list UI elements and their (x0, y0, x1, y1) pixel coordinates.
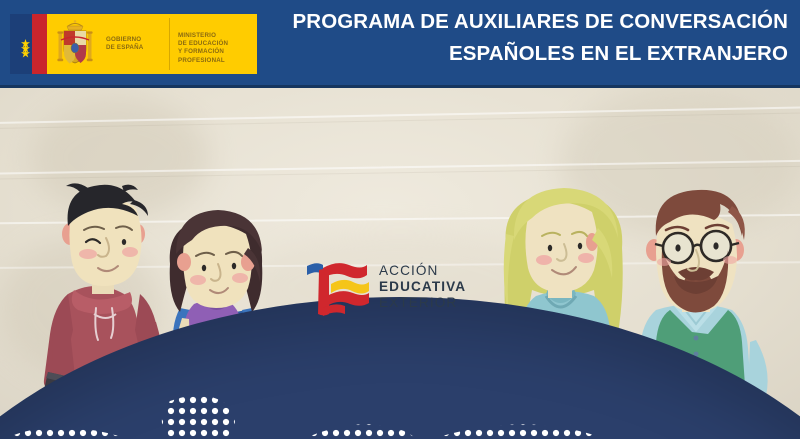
brand-line-2: EDUCATIVA (379, 279, 466, 295)
coat-of-arms-icon (55, 18, 95, 68)
accion-educativa-exterior-logo: ACCIÓN EDUCATIVA EXTERIOR (303, 256, 483, 318)
header-bar: GOBIERNO DE ESPAÑA MINISTERIO DE EDUCACI… (0, 0, 800, 88)
brand-wordmark: ACCIÓN EDUCATIVA EXTERIOR (379, 263, 466, 312)
globe-dot-map (0, 297, 800, 439)
page-title-line-1: PROGRAMA DE AUXILIARES DE CONVERSACIÓN (248, 6, 788, 38)
page-title: PROGRAMA DE AUXILIARES DE CONVERSACIÓN E… (248, 6, 788, 70)
spain-flag-e-mark-icon (303, 258, 369, 316)
globe-sphere (0, 297, 800, 439)
illustration-scene: ACCIÓN EDUCATIVA EXTERIOR (0, 88, 800, 439)
gobierno-label: GOBIERNO DE ESPAÑA (106, 36, 143, 52)
eu-stars-strip (10, 14, 32, 74)
page-title-line-2: ESPAÑOLES EN EL EXTRANJERO (248, 38, 788, 70)
flag-red-stripe (32, 14, 47, 74)
brand-line-3: EXTERIOR (379, 295, 466, 311)
logo-divider (169, 18, 170, 70)
brand-line-1: ACCIÓN (379, 263, 466, 279)
ministerio-label: MINISTERIO DE EDUCACIÓN Y FORMACIÓN PROF… (178, 32, 257, 65)
flag-yellow-field: GOBIERNO DE ESPAÑA MINISTERIO DE EDUCACI… (47, 14, 257, 74)
poster-root: GOBIERNO DE ESPAÑA MINISTERIO DE EDUCACI… (0, 0, 800, 439)
gobierno-de-espana-ministerio-logo: GOBIERNO DE ESPAÑA MINISTERIO DE EDUCACI… (10, 14, 257, 74)
